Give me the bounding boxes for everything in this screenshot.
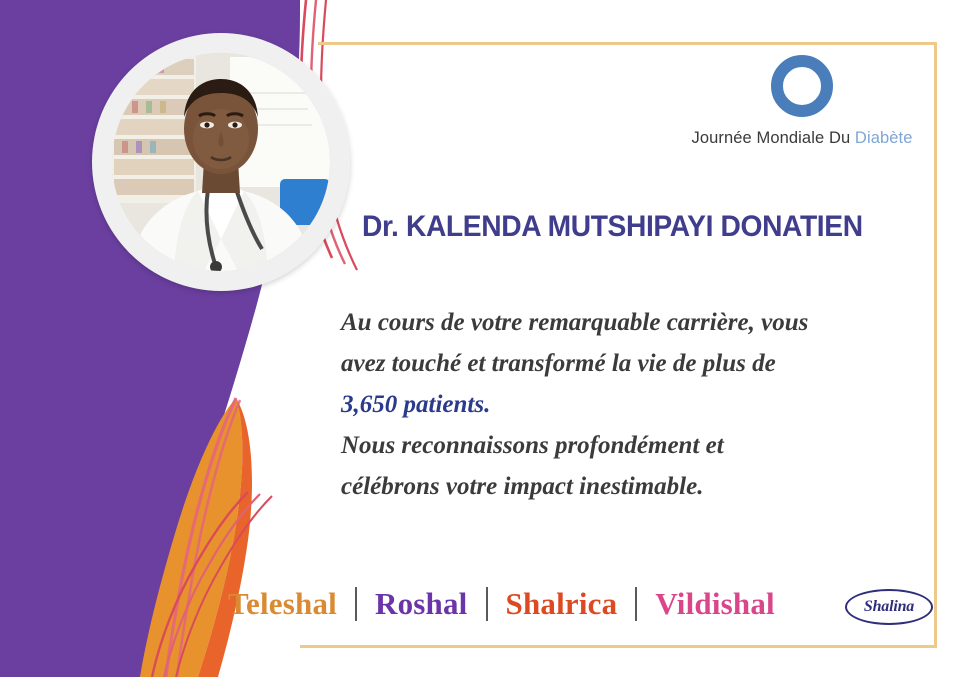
wdd-caption-dark: Journée Mondiale Du bbox=[691, 129, 850, 147]
brand-teleshal: Teleshal bbox=[228, 586, 337, 622]
message-line-1: Au cours de votre remarquable carrière, … bbox=[341, 302, 911, 343]
shalina-logo-text: Shalina bbox=[845, 589, 933, 625]
message-line-2: avez touché et transformé la vie de plus… bbox=[341, 343, 911, 384]
frame-stub-bottom-left bbox=[300, 645, 340, 648]
world-diabetes-day-logo: Journée Mondiale Du Diabète bbox=[676, 55, 928, 148]
award-certificate-card: Journée Mondiale Du Diabète Dr. KALENDA … bbox=[0, 0, 960, 677]
patient-count-highlight: 3,650 patients. bbox=[341, 384, 911, 425]
message-line-4: célébrons votre impact inestimable. bbox=[341, 466, 911, 507]
brand-separator bbox=[355, 587, 357, 621]
brand-shalrica: Shalrica bbox=[506, 586, 618, 622]
brand-roshal: Roshal bbox=[375, 586, 468, 622]
wdd-caption: Journée Mondiale Du Diabète bbox=[676, 129, 928, 148]
avatar bbox=[112, 53, 330, 271]
wdd-caption-light: Diabète bbox=[855, 129, 913, 147]
message-body: Au cours de votre remarquable carrière, … bbox=[341, 302, 911, 507]
brand-separator bbox=[486, 587, 488, 621]
brand-separator bbox=[635, 587, 637, 621]
frame-stub-top-left bbox=[318, 42, 338, 45]
shalina-logo: Shalina bbox=[845, 589, 933, 625]
message-line-3: Nous reconnaissons profondément et bbox=[341, 425, 911, 466]
brand-vildishal: Vildishal bbox=[655, 586, 775, 622]
blue-circle-icon bbox=[771, 55, 833, 117]
portrait-medallion bbox=[92, 33, 350, 291]
page-title: Dr. KALENDA MUTSHIPAYI DONATIEN bbox=[362, 210, 888, 244]
brand-list: Teleshal Roshal Shalrica Vildishal bbox=[228, 586, 775, 622]
